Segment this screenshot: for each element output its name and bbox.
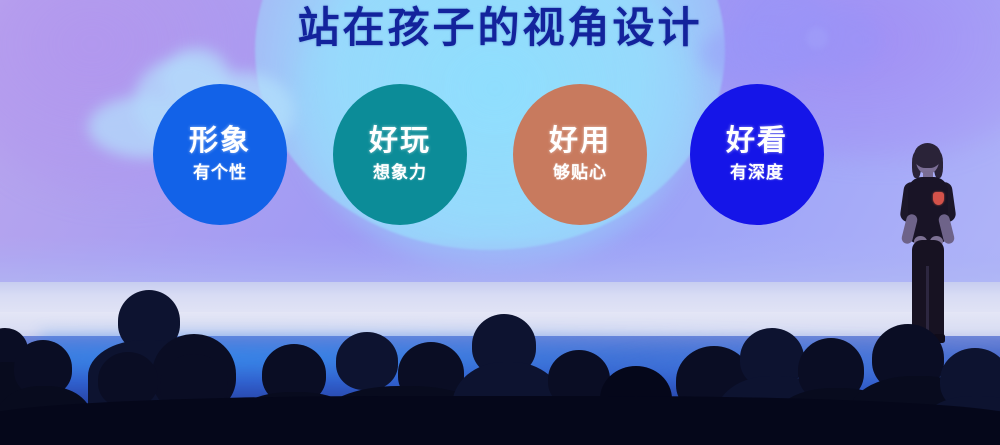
stage-back-band <box>0 282 1000 316</box>
concept-circle-main-label: 好玩 <box>369 124 431 158</box>
shirt-logo-icon <box>933 192 944 205</box>
presenter-figure <box>890 146 964 364</box>
concept-circle-image: 形象 有个性 <box>153 84 287 225</box>
concept-circle-sub-label: 有个性 <box>193 161 247 185</box>
concept-circle-sub-label: 有深度 <box>730 161 784 185</box>
slide-title: 站在孩子的视角设计 <box>0 2 1000 54</box>
concept-circle-beautiful: 好看 有深度 <box>690 84 824 225</box>
concept-circle-main-label: 好看 <box>726 124 788 158</box>
concept-circle-usable: 好用 够贴心 <box>513 84 647 225</box>
concept-circle-row: 形象 有个性 好玩 想象力 好用 够贴心 好看 有深度 <box>0 84 900 234</box>
concept-circle-main-label: 好用 <box>549 124 611 158</box>
screen-bottom-fade <box>0 236 1000 288</box>
stage-photo: 站在孩子的视角设计 形象 有个性 好玩 想象力 好用 够贴心 好看 有深度 <box>0 0 1000 445</box>
concept-circle-sub-label: 够贴心 <box>553 161 607 185</box>
concept-circle-fun: 好玩 想象力 <box>333 84 467 225</box>
concept-circle-sub-label: 想象力 <box>373 161 427 185</box>
projection-screen: 站在孩子的视角设计 形象 有个性 好玩 想象力 好用 够贴心 好看 有深度 <box>0 0 1000 288</box>
concept-circle-main-label: 形象 <box>189 124 251 158</box>
